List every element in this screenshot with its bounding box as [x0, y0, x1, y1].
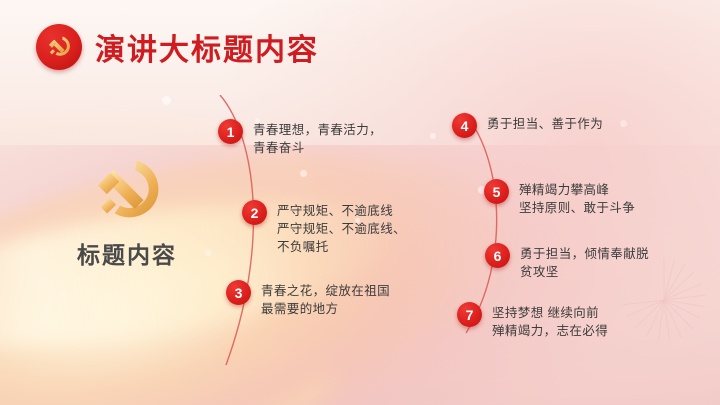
list-item[interactable]: 3 青春之花，绽放在祖国 最需要的地方 — [226, 280, 390, 318]
item-text: 坚持梦想 继续向前 殚精竭力，志在必得 — [492, 302, 608, 340]
item-number-badge: 2 — [242, 200, 267, 225]
item-text: 殚精竭力攀高峰 坚持原则、敢于斗争 — [519, 179, 635, 217]
list-item[interactable]: 7 坚持梦想 继续向前 殚精竭力，志在必得 — [457, 302, 608, 340]
page-title: 演讲大标题内容 — [95, 25, 319, 69]
list-item[interactable]: 5 殚精竭力攀高峰 坚持原则、敢于斗争 — [484, 179, 635, 217]
right-item-column: 4 勇于担当、善于作为 5 殚精竭力攀高峰 坚持原则、敢于斗争 6 勇于担当，倾… — [440, 95, 710, 365]
party-emblem-gold-icon — [85, 152, 169, 228]
brand-label: 标题内容 — [52, 236, 202, 270]
item-text: 勇于担当、善于作为 — [487, 113, 603, 133]
item-number-badge: 1 — [218, 119, 243, 144]
list-item[interactable]: 1 青春理想，青春活力， 青春奋斗 — [218, 119, 382, 157]
bokeh-dot — [162, 96, 171, 105]
slide-header: 演讲大标题内容 — [36, 24, 319, 70]
item-text: 青春理想，青春活力， 青春奋斗 — [253, 119, 382, 157]
item-number-badge: 3 — [226, 280, 251, 305]
item-number-badge: 4 — [452, 113, 477, 138]
left-item-column: 1 青春理想，青春活力， 青春奋斗 2 严守规矩、不逾底线 严守规矩、不逾底线、… — [200, 95, 440, 365]
bokeh-dot — [120, 300, 131, 311]
list-item[interactable]: 6 勇于担当，倾情奉献脱 贫攻坚 — [485, 243, 649, 281]
list-item[interactable]: 4 勇于担当、善于作为 — [452, 113, 603, 138]
list-item[interactable]: 2 严守规矩、不逾底线 严守规矩、不逾底线、 不负嘱托 — [242, 200, 406, 256]
item-number-badge: 6 — [485, 243, 510, 268]
item-number-badge: 5 — [484, 179, 509, 204]
bokeh-dot — [60, 290, 67, 297]
item-text: 青春之花，绽放在祖国 最需要的地方 — [261, 280, 390, 318]
item-number-badge: 7 — [457, 302, 482, 327]
brand-block: 标题内容 — [52, 152, 202, 270]
party-emblem-icon — [36, 24, 82, 70]
item-text: 严守规矩、不逾底线 严守规矩、不逾底线、 不负嘱托 — [277, 200, 406, 256]
item-text: 勇于担当，倾情奉献脱 贫攻坚 — [520, 243, 649, 281]
slide-canvas: 演讲大标题内容 标题内容 — [0, 0, 720, 405]
